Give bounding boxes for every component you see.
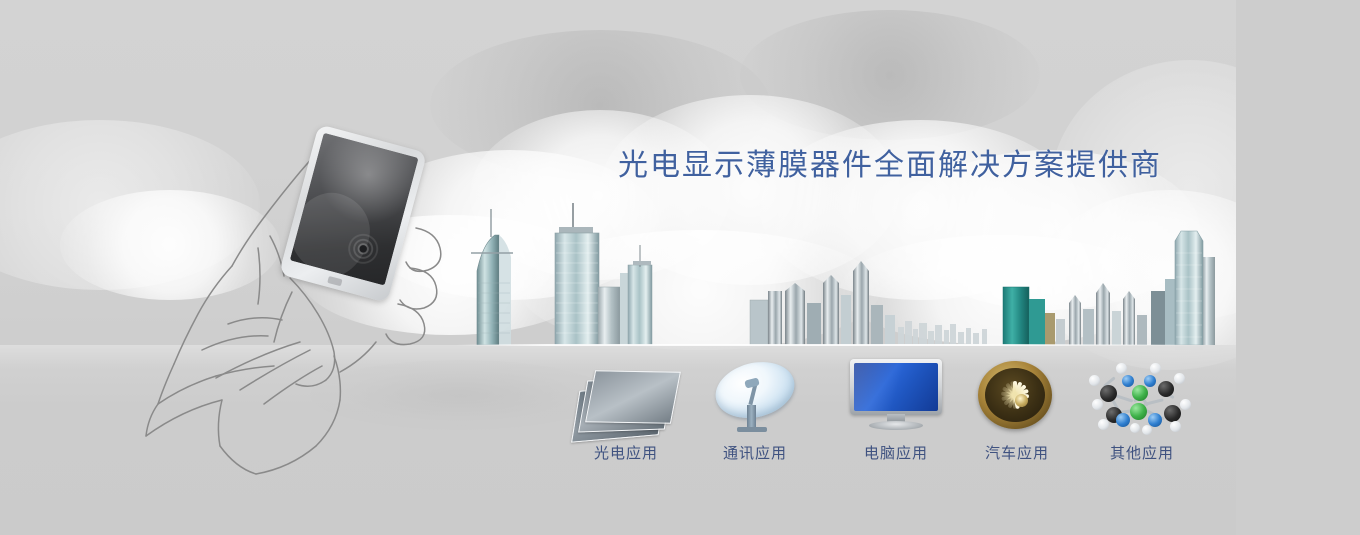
app-label-automotive: 汽车应用 bbox=[952, 442, 1082, 463]
city-skyline bbox=[455, 195, 1215, 350]
banner-right-fill bbox=[1236, 0, 1360, 535]
film-sheet-front bbox=[585, 370, 681, 423]
app-item-other[interactable]: 其他应用 bbox=[1077, 355, 1207, 463]
molecule-atom-metal bbox=[1130, 403, 1147, 420]
page-title: 光电显示薄膜器件全面解决方案提供商 bbox=[618, 140, 1162, 184]
molecule-atom-carbon bbox=[1158, 381, 1174, 397]
molecule-atom-carbon bbox=[1164, 405, 1181, 422]
dish-base bbox=[737, 427, 767, 432]
molecule-atom-nitrogen bbox=[1144, 375, 1156, 387]
molecule-atom-hydrogen bbox=[1174, 373, 1185, 384]
banner-artwork: 光电显示薄膜器件全面解决方案提供商 光电应用 bbox=[0, 0, 1238, 535]
molecule-atom-hydrogen bbox=[1116, 363, 1127, 374]
molecule-atom-hydrogen bbox=[1142, 425, 1152, 435]
molecule-atom-nitrogen bbox=[1122, 375, 1134, 387]
alloy-wheel-icon bbox=[952, 355, 1082, 433]
horizon-line bbox=[455, 344, 1215, 346]
steel-cluster bbox=[1069, 283, 1147, 345]
molecule-atom-hydrogen bbox=[1130, 423, 1140, 433]
molecule-icon bbox=[1077, 355, 1207, 433]
main-tower bbox=[555, 203, 599, 345]
tower-group-right bbox=[750, 261, 895, 345]
molecule-atom-hydrogen bbox=[1180, 399, 1191, 410]
app-label-communication: 通讯应用 bbox=[690, 442, 820, 463]
molecule-atom-hydrogen bbox=[1170, 421, 1181, 432]
molecule-atom-hydrogen bbox=[1150, 363, 1161, 374]
monitor-stand bbox=[869, 421, 923, 430]
tower-group-center bbox=[598, 245, 652, 345]
app-label-optoelectronic: 光电应用 bbox=[561, 442, 691, 463]
right-glass-towers bbox=[1151, 231, 1215, 345]
molecule-atom-nitrogen bbox=[1148, 413, 1162, 427]
molecule-atom-metal bbox=[1132, 385, 1148, 401]
satellite-dish-icon bbox=[690, 355, 820, 433]
hero-banner: 光电显示薄膜器件全面解决方案提供商 光电应用 bbox=[0, 0, 1360, 535]
app-item-computer[interactable]: 电脑应用 bbox=[831, 355, 961, 463]
molecule-atom-hydrogen bbox=[1092, 399, 1103, 410]
distant-skyline bbox=[898, 321, 987, 345]
monitor-bezel bbox=[850, 359, 942, 415]
app-item-communication[interactable]: 通讯应用 bbox=[690, 355, 820, 463]
app-item-automotive[interactable]: 汽车应用 bbox=[952, 355, 1082, 463]
molecule-atom-hydrogen bbox=[1089, 375, 1100, 386]
molecule-bond bbox=[1144, 398, 1164, 406]
molecule-atom-hydrogen bbox=[1098, 419, 1109, 430]
teal-towers bbox=[1003, 287, 1065, 345]
molecule-atom-carbon bbox=[1100, 385, 1117, 402]
hand-holding-phone-illustration bbox=[140, 128, 480, 478]
cloud-shadow-2 bbox=[740, 10, 1040, 140]
computer-monitor-icon bbox=[831, 355, 961, 433]
app-label-other: 其他应用 bbox=[1077, 442, 1207, 463]
app-item-optoelectronic[interactable]: 光电应用 bbox=[561, 355, 691, 463]
wheel-hub bbox=[1015, 394, 1028, 407]
monitor-screen bbox=[854, 363, 938, 411]
molecule-atom-nitrogen bbox=[1116, 413, 1130, 427]
glass-film-sheets-icon bbox=[561, 355, 691, 433]
wheel-face bbox=[985, 368, 1045, 422]
app-label-computer: 电脑应用 bbox=[831, 442, 961, 463]
